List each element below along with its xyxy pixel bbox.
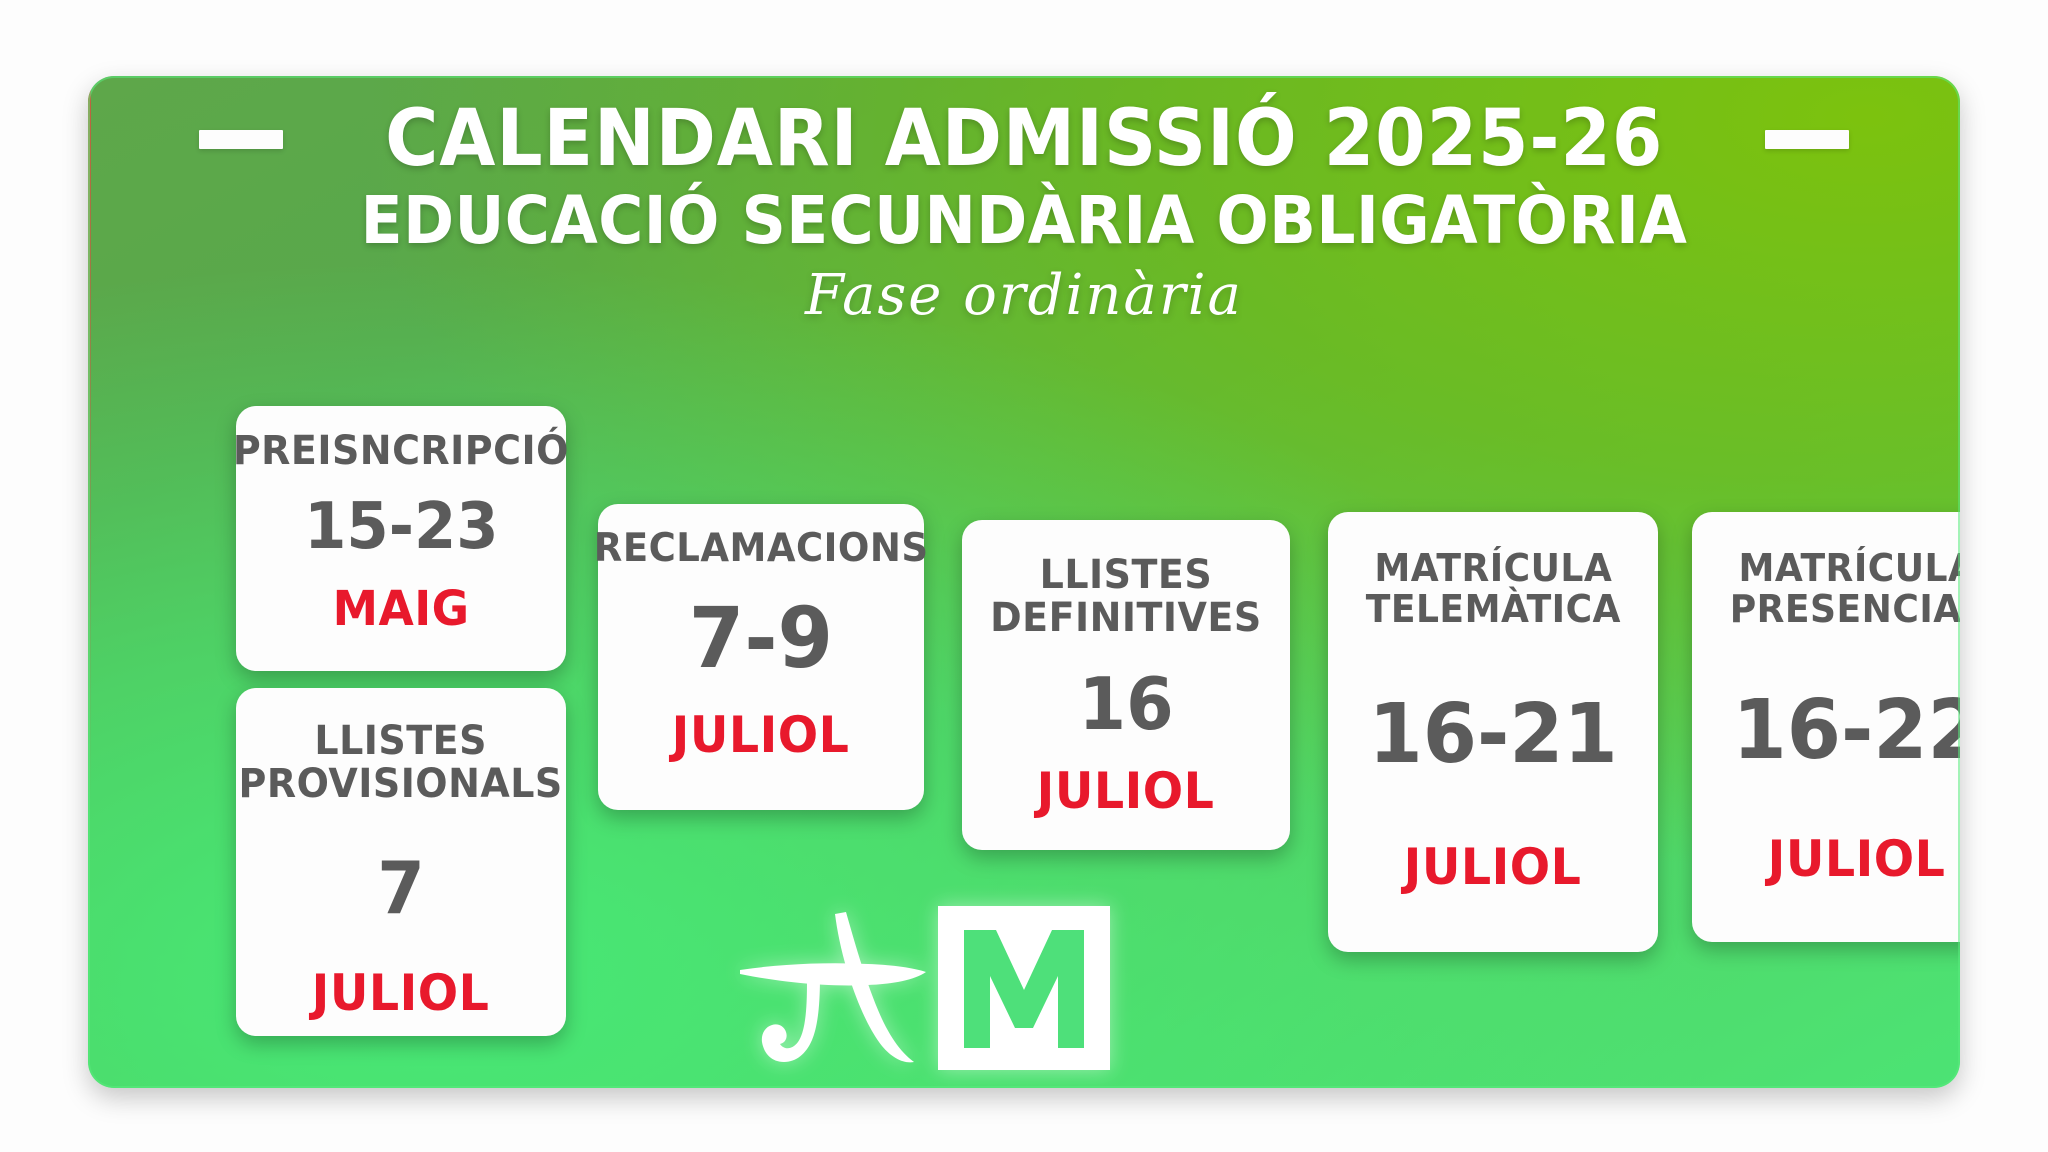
am-logo [728, 884, 1128, 1084]
page-subtitle: EDUCACIÓ SECUNDÀRIA OBLIGATÒRIA [154, 188, 1895, 254]
dash-left-icon [199, 130, 283, 149]
milestone-card-reclamacions: RECLAMACIONS 7-9 JULIOL [598, 504, 924, 810]
card-month: JULIOL [312, 968, 490, 1018]
milestone-card-llistes-definitives: LLISTESDEFINITIVES 16 JULIOL [962, 520, 1290, 850]
card-month: JULIOL [1768, 834, 1946, 884]
card-label: MATRÍCULAPRESENCIAL [1729, 548, 1960, 630]
card-month: JULIOL [672, 710, 850, 760]
card-label: LLISTESPROVISIONALS [239, 720, 563, 806]
card-days: 16-22 [1732, 690, 1960, 772]
calendar-poster: CALENDARI ADMISSIÓ 2025-26 EDUCACIÓ SECU… [88, 76, 1960, 1088]
title-row: CALENDARI ADMISSIÓ 2025-26 [88, 100, 1960, 178]
milestone-card-matricula-presencial: MATRÍCULAPRESENCIAL 16-22 JULIOL [1692, 512, 1960, 942]
card-month: JULIOL [1404, 842, 1582, 892]
card-month: MAIG [333, 585, 470, 633]
card-month: JULIOL [1037, 766, 1215, 816]
milestone-card-preinscripcio: PREISNCRIPCIÓ 15-23 MAIG [236, 406, 566, 671]
card-days: 15-23 [304, 495, 498, 559]
card-label: PREISNCRIPCIÓ [233, 430, 569, 473]
am-logo-icon [728, 884, 1128, 1084]
card-label: MATRÍCULATELEMÀTICA [1365, 548, 1620, 630]
milestone-card-llistes-provisionals: LLISTESPROVISIONALS 7 JULIOL [236, 688, 566, 1036]
milestone-card-matricula-telematica: MATRÍCULATELEMÀTICA 16-21 JULIOL [1328, 512, 1658, 952]
card-label: RECLAMACIONS [594, 528, 929, 570]
card-days: 16 [1078, 668, 1173, 740]
card-days: 7 [377, 852, 425, 924]
card-days: 16-21 [1368, 694, 1617, 776]
phase-label: Fase ordinària [88, 268, 1960, 324]
poster-stage: CALENDARI ADMISSIÓ 2025-26 EDUCACIÓ SECU… [0, 0, 2048, 1152]
dash-right-icon [1765, 130, 1849, 149]
card-days: 7-9 [689, 596, 833, 680]
poster-header: CALENDARI ADMISSIÓ 2025-26 EDUCACIÓ SECU… [88, 100, 1960, 324]
page-title: CALENDARI ADMISSIÓ 2025-26 [385, 100, 1663, 178]
card-label: LLISTESDEFINITIVES [990, 554, 1262, 640]
